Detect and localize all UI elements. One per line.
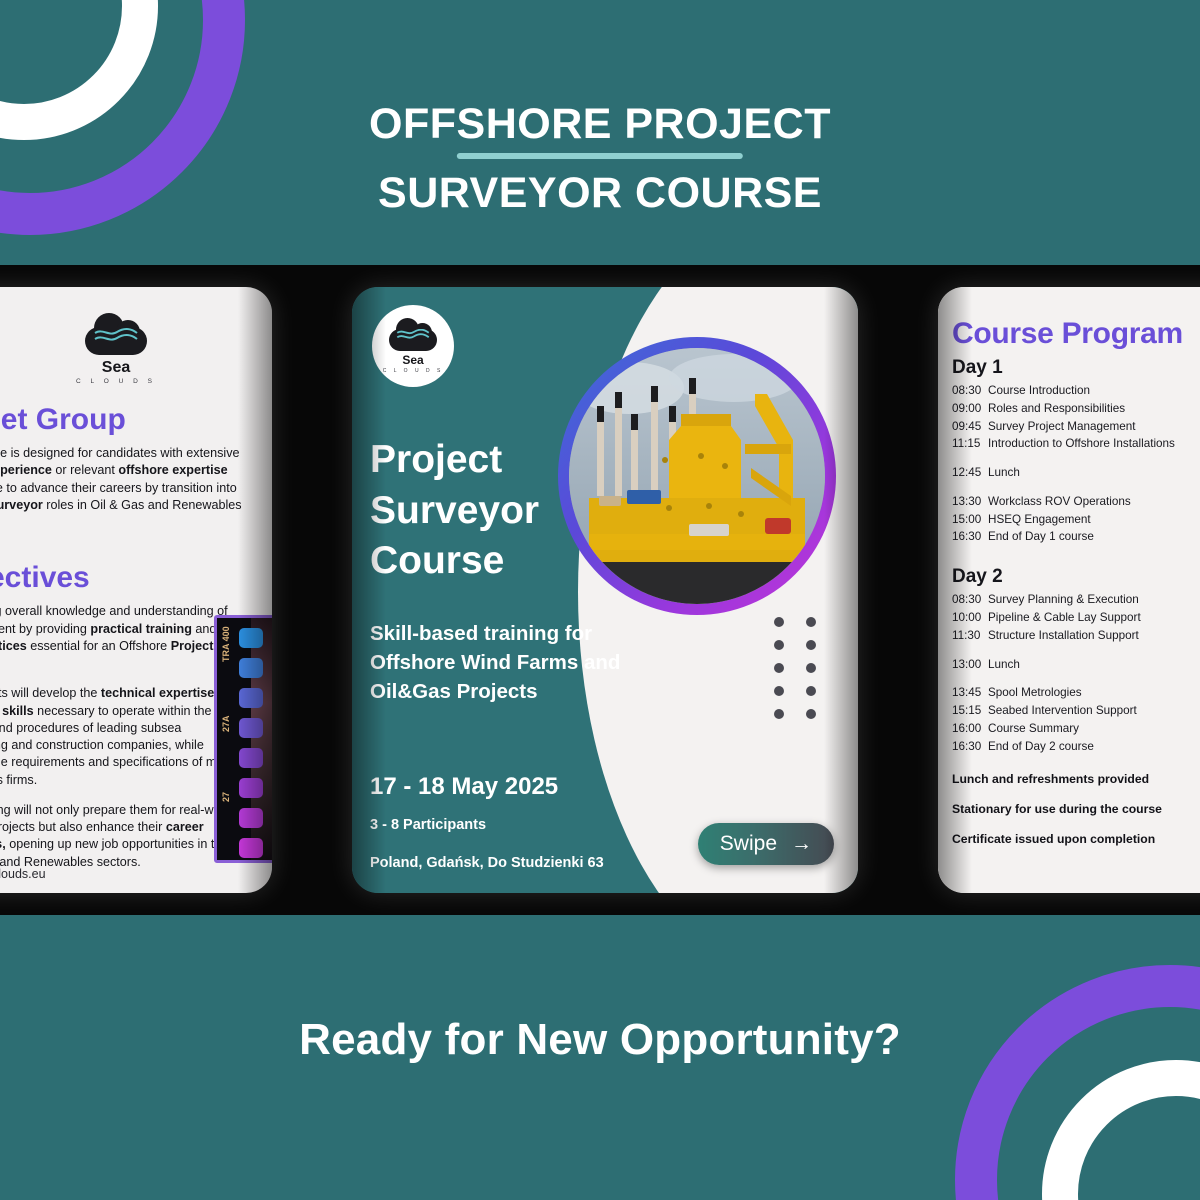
schedule-row: 12:45Lunch (952, 464, 1200, 482)
target-group-paragraph: This course is designed for candidates w… (0, 445, 242, 531)
schedule-time: 12:45 (952, 464, 988, 482)
course-schedule: Day 108:30Course Introduction09:00Roles … (952, 357, 1200, 756)
brand-subtitle: C L O U D S (383, 368, 444, 374)
arrow-right-icon: → (791, 832, 812, 856)
brand-logo-badge: Sea C L O U D S (372, 305, 454, 387)
schedule-item: Lunch (988, 464, 1020, 482)
schedule-item: End of Day 1 course (988, 528, 1094, 546)
poster-canvas: OFFSHORE PROJECT SURVEYOR COURSE Sea C L… (0, 0, 1200, 1200)
schedule-item: Survey Planning & Execution (988, 591, 1139, 609)
objectives-paragraph-1: Enhancing overall knowledge and understa… (0, 603, 242, 672)
course-location: Poland, Gdańsk, Do Studzienki 63 (370, 855, 604, 871)
schedule-item: Spool Metrologies (988, 684, 1082, 702)
schedule-row: 13:45Spool Metrologies (952, 684, 1200, 702)
page-title-line2: SURVEYOR COURSE (0, 165, 1200, 222)
objectives-paragraph-3: This training will not only prepare them… (0, 802, 242, 871)
schedule-spacer (952, 673, 1200, 684)
schedule-row: 16:30End of Day 2 course (952, 738, 1200, 756)
film-label-0: TRA 400 (221, 626, 231, 662)
schedule-time: 08:30 (952, 591, 988, 609)
cloud-icon (85, 313, 147, 355)
course-note: Certificate issued upon completion (952, 832, 1200, 846)
course-dates: 17 - 18 May 2025 (370, 773, 558, 801)
cloud-icon (389, 318, 437, 351)
schedule-row: 10:00Pipeline & Cable Lay Support (952, 609, 1200, 627)
film-label-1: 27A (221, 715, 231, 732)
wave-lines-icon (396, 329, 430, 341)
schedule-row: 16:30End of Day 1 course (952, 528, 1200, 546)
schedule-row: 11:30Structure Installation Support (952, 627, 1200, 645)
course-program-heading: Course Program (952, 317, 1200, 351)
course-note: Stationary for use during the course (952, 802, 1200, 816)
schedule-time: 11:15 (952, 435, 988, 453)
cover-title: Project Surveyor Course (370, 435, 539, 587)
objectives-heading: Objectives (0, 561, 272, 595)
schedule-spacer (952, 645, 1200, 656)
schedule-item: HSEQ Engagement (988, 511, 1091, 529)
schedule-time: 09:00 (952, 400, 988, 418)
schedule-row: 09:00Roles and Responsibilities (952, 400, 1200, 418)
schedule-item: Seabed Intervention Support (988, 702, 1137, 720)
schedule-time: 13:30 (952, 493, 988, 511)
schedule-time: 16:30 (952, 738, 988, 756)
schedule-item: Pipeline & Cable Lay Support (988, 609, 1141, 627)
schedule-day-heading: Day 2 (952, 566, 1200, 588)
schedule-row: 15:00HSEQ Engagement (952, 511, 1200, 529)
schedule-row: 13:00Lunch (952, 656, 1200, 674)
schedule-time: 16:30 (952, 528, 988, 546)
film-strip-decoration: TRA 400 27A 27 (214, 615, 272, 863)
schedule-time: 15:15 (952, 702, 988, 720)
footer-cta: Ready for New Opportunity? (0, 1015, 1200, 1065)
dot-grid-decoration (774, 617, 816, 719)
schedule-time: 13:45 (952, 684, 988, 702)
schedule-item: Structure Installation Support (988, 627, 1139, 645)
wave-lines-icon (94, 328, 138, 344)
brand-subtitle: C L O U D S (76, 378, 156, 385)
slide-card-cover[interactable]: Sea C L O U D S (352, 287, 858, 893)
schedule-row: 08:30Survey Planning & Execution (952, 591, 1200, 609)
schedule-spacer (952, 482, 1200, 493)
schedule-item: Lunch (988, 656, 1020, 674)
schedule-time: 16:00 (952, 720, 988, 738)
schedule-time: 15:00 (952, 511, 988, 529)
schedule-time: 10:00 (952, 609, 988, 627)
carousel-band: Sea C L O U D S Target Group This course… (0, 265, 1200, 915)
cover-photo-ring (558, 337, 836, 615)
schedule-item: End of Day 2 course (988, 738, 1094, 756)
cover-photo (569, 348, 825, 604)
swipe-button-label: Swipe (720, 832, 777, 856)
course-notes: Lunch and refreshments providedStationar… (952, 772, 1200, 846)
page-title: OFFSHORE PROJECT SURVEYOR COURSE (0, 96, 1200, 222)
brand-name: Sea (402, 353, 423, 367)
schedule-day-heading: Day 1 (952, 357, 1200, 379)
participants-count: 3 - 8 Participants (370, 817, 486, 833)
schedule-time: 08:30 (952, 382, 988, 400)
schedule-item: Course Introduction (988, 382, 1090, 400)
schedule-row: 16:00Course Summary (952, 720, 1200, 738)
cover-subtitle: Skill-based training for Offshore Wind F… (370, 619, 670, 706)
film-label-2: 27 (221, 792, 231, 802)
schedule-row: 09:45Survey Project Management (952, 418, 1200, 436)
schedule-time: 11:30 (952, 627, 988, 645)
brand-name: Sea (102, 359, 130, 377)
swipe-button[interactable]: Swipe → (698, 823, 834, 865)
schedule-item: Roles and Responsibilities (988, 400, 1125, 418)
schedule-spacer (952, 453, 1200, 464)
schedule-row: 15:15Seabed Intervention Support (952, 702, 1200, 720)
brand-logo: Sea C L O U D S (0, 313, 272, 385)
page-title-line1: OFFSHORE PROJECT (369, 96, 831, 159)
schedule-row: 08:30Course Introduction (952, 382, 1200, 400)
course-note: Lunch and refreshments provided (952, 772, 1200, 786)
slide-card-course-program[interactable]: Course Program Day 108:30Course Introduc… (938, 287, 1200, 893)
schedule-row: 11:15Introduction to Offshore Installati… (952, 435, 1200, 453)
slide-card-target-group[interactable]: Sea C L O U D S Target Group This course… (0, 287, 272, 893)
schedule-time: 13:00 (952, 656, 988, 674)
target-group-heading: Target Group (0, 403, 272, 437)
schedule-item: Survey Project Management (988, 418, 1135, 436)
website-url: www.seaclouds.eu (0, 867, 46, 881)
schedule-spacer (952, 546, 1200, 560)
schedule-time: 09:45 (952, 418, 988, 436)
schedule-item: Course Summary (988, 720, 1079, 738)
schedule-item: Workclass ROV Operations (988, 493, 1131, 511)
schedule-row: 13:30Workclass ROV Operations (952, 493, 1200, 511)
objectives-paragraph-2: Participants will develop the technical … (0, 685, 242, 789)
schedule-item: Introduction to Offshore Installations (988, 435, 1175, 453)
